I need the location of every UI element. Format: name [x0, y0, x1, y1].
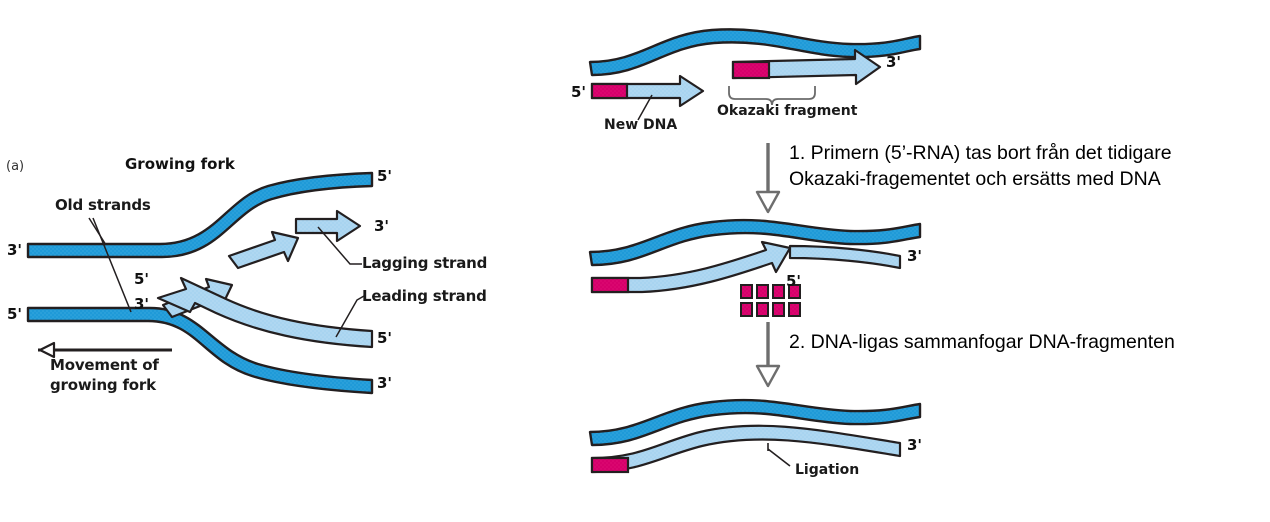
lagging-arrow-3: [296, 211, 360, 241]
panel-b-stage3-graphics: [590, 400, 920, 472]
lagging-strand-label: Lagging strand: [362, 254, 487, 272]
prime-template-bottom-left: 5': [7, 305, 22, 323]
panel-letter-a: (a): [6, 159, 24, 175]
prime-bottom-right-old: 3': [377, 374, 392, 392]
ligation-label: Ligation: [795, 462, 859, 479]
prime-leading-right-5: 5': [377, 329, 392, 347]
stage1-prime-right: 3': [886, 53, 901, 71]
step-1-line-2: Okazaki-fragementet och ersätts med DNA: [789, 167, 1161, 192]
old-strands-label: Old strands: [55, 196, 151, 214]
transition-arrow-1: [757, 143, 779, 212]
okazaki-fragment-2: [790, 246, 900, 268]
old-strand-top: [28, 173, 372, 257]
movement-label-line1: Movement of: [50, 356, 159, 374]
stage2-prime-gap: 5': [786, 272, 801, 290]
transition-arrow-2: [757, 322, 779, 386]
new-dna-label: New DNA: [604, 117, 677, 134]
panel-b-stage2-graphics: [590, 220, 920, 316]
ligation-leader: [768, 443, 790, 466]
leading-strand-arrow: [158, 278, 372, 347]
prime-lagging-right: 3': [374, 217, 389, 235]
old-strands-leaders: [89, 218, 131, 312]
prime-lagging-start: 5': [134, 270, 149, 288]
stage1-prime-left: 5': [571, 83, 586, 101]
movement-label-line2: growing fork: [50, 376, 156, 394]
figure-canvas: (a) Growing fork Old strands Lagging str…: [0, 0, 1270, 522]
dna-replication-diagram: [0, 0, 1270, 522]
leading-strand-label: Leading strand: [362, 287, 487, 305]
new-dna-fragment-1: [592, 76, 703, 106]
movement-arrow: [38, 343, 172, 357]
lagging-arrow-2: [229, 232, 298, 268]
prime-leading-start: 3': [134, 295, 149, 313]
rna-primer-3: [592, 278, 628, 292]
step-2-line-1: 2. DNA-ligas sammanfogar DNA-fragmenten: [789, 330, 1175, 355]
rna-primer-2: [733, 62, 769, 78]
rna-primer-4: [592, 458, 628, 472]
panel-a-title: Growing fork: [125, 155, 235, 173]
prime-template-top-left: 3': [7, 241, 22, 259]
stage3-prime-right: 3': [907, 436, 922, 454]
okazaki-fragment-1: [733, 50, 880, 84]
stage2-prime-right: 3': [907, 247, 922, 265]
step-1-line-1: 1. Primern (5’-RNA) tas bort från det ti…: [789, 141, 1172, 166]
prime-top-right-old: 5': [377, 167, 392, 185]
okazaki-fragment-label: Okazaki fragment: [717, 103, 857, 120]
rna-primer-1: [592, 84, 627, 98]
